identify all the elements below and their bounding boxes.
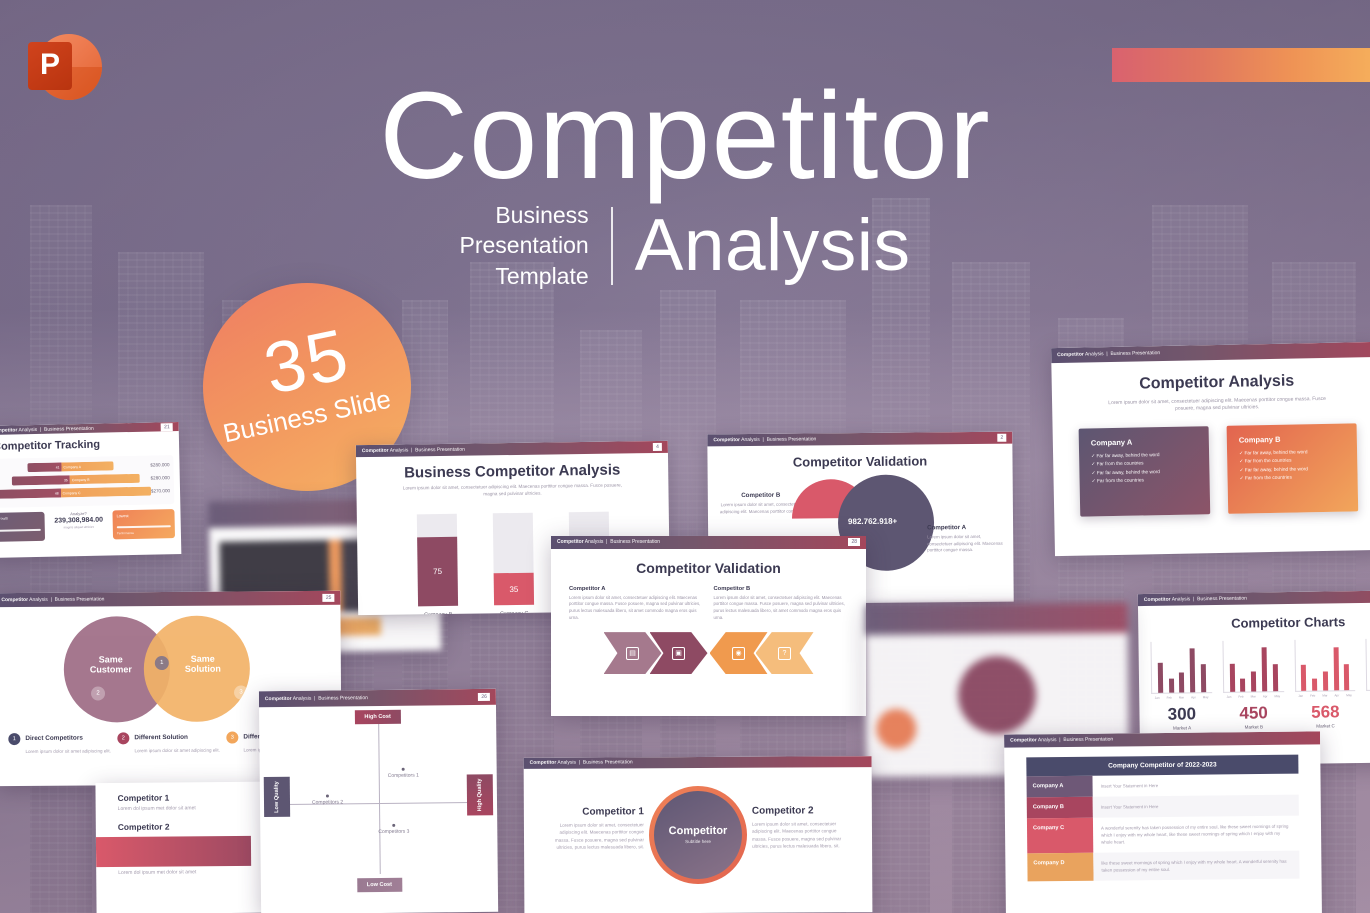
bar-column: 35 Company C [493, 513, 534, 606]
mini-bar-chart [1222, 640, 1283, 693]
preview-canvas: P Competitor BusinessPresentationTemplat… [0, 0, 1370, 913]
slide-header-brand: Competitor [362, 448, 389, 454]
tracking-card-right-rule [117, 525, 171, 528]
tracking-right-label: Company A [63, 465, 81, 469]
venn-right-number: 3 [234, 685, 248, 699]
table-company: Company C [1027, 818, 1093, 854]
table-statement: Insert Your Statement in Here [1092, 774, 1298, 797]
chart-big-number: 450 [1223, 703, 1284, 724]
blurred-header [865, 603, 1127, 635]
table-statement: Insert Your Statement in Here [1093, 795, 1299, 818]
tracking-card-left-rule [0, 529, 41, 532]
chart-cell: JanFebMarAprMay 568 Market C [1294, 639, 1356, 729]
competitor-pair-center-title: Competitor [669, 825, 728, 837]
slide-header-secondary: Business Presentation [415, 447, 465, 454]
table-company: Company D [1027, 853, 1093, 882]
table-company: Company A [1026, 776, 1092, 798]
competitor-pair-left-text: Lorem ipsum dolor sit amet, consectetuer… [550, 821, 644, 851]
matrix-vertical-axis [378, 722, 380, 874]
tracking-row: 35Company B $280.000 [0, 473, 170, 486]
matrix-label-right: High Quality [467, 774, 493, 815]
tracking-bar-panel: 41Company A $280.000 35Company B $280.00… [0, 455, 174, 508]
company-card-item: Far from the countries [1092, 477, 1198, 487]
venn-overlap-number: 1 [155, 655, 169, 669]
validation-right-title: Competitor A [927, 524, 1005, 532]
tracking-footer: Growth Analyze? 239,308,984.00 magnis al… [0, 509, 175, 542]
decorative-gradient-bar [1112, 48, 1370, 82]
matrix-point-label: Competitors 2 [312, 799, 343, 805]
matrix-label-bottom: Low Cost [357, 877, 402, 891]
table-row: Company C A wonderful serenity has taken… [1027, 816, 1299, 854]
matrix-plot: High Cost Low Cost Low Quality High Qual… [259, 704, 498, 894]
slide-competitor-analysis[interactable]: Competitor Analysis | Business Presentat… [1051, 342, 1370, 556]
chart-x-ticks: JanFebMarAprMay [1295, 693, 1356, 698]
slide-header-secondary: Business Presentation [1110, 350, 1160, 357]
mini-bar-chart [1150, 641, 1211, 694]
tracking-left-pct: 41 [56, 465, 60, 469]
venn-legend-number: 3 [226, 731, 238, 743]
arrow-process: ▤ ▣ ◉ ? [551, 632, 866, 674]
slide-header-brand-rest: Analysis [1171, 596, 1191, 602]
company-card-b-title: Company B [1239, 434, 1345, 445]
tracking-card-right-title: Lowest [117, 513, 171, 518]
company-card-a: Company A Far far away, behind the word … [1079, 426, 1211, 516]
slide-header-secondary: Business Presentation [55, 596, 105, 602]
tracking-row: 48Company C $270.000 [0, 486, 170, 499]
competitor-bars-accent [96, 836, 251, 867]
competitor-pair-center-sub: Subtitle here [685, 839, 711, 844]
validation-column-a-text: Lorem ipsum dolor sit amet, consectetuer… [569, 595, 704, 623]
matrix-point: Competitors 3 [378, 823, 409, 834]
validation-right-text: Lorem ipsum dolor sit amet, consectetuer… [927, 534, 1005, 555]
slide-header-secondary: Business Presentation [1063, 737, 1113, 744]
tracking-metric: Analyze? 239,308,984.00 magnis aliquet u… [48, 511, 109, 541]
tracking-row: 41Company A $280.000 [0, 460, 170, 473]
charts-row: JanFebMarAprMay 300 Market A JanFebMarAp… [1138, 638, 1370, 731]
competitor-table: Company Competitor of 2022-2023 Company … [1026, 755, 1299, 882]
tracking-left-pct: 35 [64, 478, 68, 482]
slide-header-brand-rest: Analysis [584, 539, 604, 545]
chart-big-number: 300 [1151, 704, 1212, 725]
tracking-card-left: Growth [0, 512, 45, 542]
table-row: Company A Insert Your Statement in Here [1026, 774, 1298, 798]
slide-header-secondary: Business Presentation [318, 695, 368, 702]
venn-right-label: SameSolution [156, 653, 250, 675]
slide-header-brand-rest: Analysis [1084, 351, 1104, 357]
tracking-card-right: Lowest Performance [112, 509, 175, 539]
slide-header-secondary: Business Presentation [583, 760, 633, 766]
slide-header-brand: Competitor [713, 437, 740, 443]
slide-title: Competitor Tracking [0, 437, 179, 453]
help-icon: ? [756, 632, 814, 674]
chart-x-ticks: JanFebMarAprMay [1223, 694, 1284, 699]
tracking-metric-value: 239,308,984.00 [49, 517, 109, 525]
blurred-circle [958, 656, 1037, 735]
slide-title: Competitor Charts [1138, 613, 1370, 632]
slide-header-brand-rest: Analysis [556, 760, 576, 766]
competitor-pair-layout: Competitor 1 Lorem ipsum dolor sit amet,… [524, 767, 873, 897]
slide-header-brand: Competitor [1, 597, 28, 603]
tracking-card-right-sub: Performance [117, 530, 171, 535]
table-row: Company D like these sweet mornings of s… [1027, 851, 1299, 882]
slide-competitor-validation-arrows[interactable]: Competitor Analysis | Business Presentat… [551, 536, 866, 716]
matrix-point: Competitors 2 [312, 794, 343, 805]
competitor-pair-right: Competitor 2 Lorem ipsum dolor sit amet,… [752, 805, 846, 850]
slide-header-brand-rest: Analysis [17, 427, 37, 433]
slide-number: 4 [653, 443, 662, 451]
slide-header-brand: Competitor [1057, 352, 1084, 359]
slide-header-brand-rest: Analysis [292, 695, 312, 701]
blurred-dot [876, 709, 916, 749]
slide-subtitle: Lorem ipsum dolor sit amet, consectetuer… [1052, 394, 1370, 415]
venn-legend-item: 2Different Solution Lorem ipsum dolor si… [117, 731, 220, 754]
validation-column-b-text: Lorem ipsum dolor sit amet, consectetuer… [714, 595, 849, 623]
company-cards: Company A Far far away, behind the word … [1053, 423, 1370, 517]
slide-header: Competitor Analysis | Business Presentat… [0, 591, 340, 607]
validation-column-b-title: Competitor B [714, 586, 849, 592]
venn-legend-number: 1 [8, 733, 20, 745]
matrix-point-label: Competitors 1 [388, 772, 419, 778]
table-statement: like these sweet mornings of spring whic… [1093, 851, 1299, 881]
slide-positioning-matrix[interactable]: Competitor Analysis | Business Presentat… [259, 689, 498, 913]
hero-subtitle-right: Analysis [613, 204, 911, 287]
validation-left-title: Competitor B [718, 491, 804, 499]
matrix-point: Competitors 1 [388, 767, 419, 778]
slide-title: Business Competitor Analysis [356, 461, 668, 482]
slide-header-brand-rest: Analysis [740, 437, 760, 443]
competitor-pair-left-title: Competitor 1 [550, 806, 644, 817]
powerpoint-icon-letter: P [28, 42, 72, 90]
tracking-value: $280.000 [151, 475, 170, 480]
slide-header: Competitor Analysis | Business Presentat… [707, 432, 1012, 447]
company-card-a-title: Company A [1091, 436, 1197, 447]
company-card-item: Far from the countries [1240, 474, 1346, 484]
slide-header-brand-rest: Analysis [1037, 738, 1057, 744]
slide-title: Competitor Validation [551, 560, 866, 576]
slide-header-brand: Competitor [557, 539, 584, 545]
validation-right-column: Competitor A Lorem ipsum dolor sit amet,… [927, 524, 1005, 555]
slide-header: Competitor Analysis | Business Presentat… [551, 536, 866, 549]
slide-subtitle: Lorem ipsum dolor sit amet, consectetuer… [356, 482, 668, 500]
chart-market-label: Market B [1223, 724, 1284, 730]
tracking-card-left-title: Growth [0, 516, 41, 521]
table-company: Company B [1027, 797, 1093, 819]
slide-header-brand: Competitor [1144, 597, 1171, 603]
tracking-right-label: Company C [63, 491, 81, 495]
validation-left-column: Competitor B Lorem ipsum dolor sit amet,… [718, 491, 804, 515]
slide-header-divider: | [40, 426, 41, 432]
competitor-pair-left: Competitor 1 Lorem ipsum dolor sit amet,… [550, 806, 644, 851]
mini-bar-chart [1294, 639, 1355, 692]
slide-company-competitor-table[interactable]: Competitor Analysis | Business Presentat… [1004, 731, 1322, 913]
validation-columns: Competitor A Lorem ipsum dolor sit amet,… [551, 586, 866, 623]
document-icon: ▤ [604, 632, 662, 674]
company-card-b: Company B Far far away, behind the word … [1227, 423, 1359, 513]
competitor-pair-right-text: Lorem ipsum dolor sit amet, consectetuer… [752, 820, 846, 850]
page-title: Competitor [0, 78, 1370, 196]
chart-x-ticks: JanFebMarAprMay [1366, 692, 1370, 697]
matrix-point-label: Competitors 3 [378, 828, 409, 834]
venn-legend-number: 2 [117, 732, 129, 744]
venn-left-number: 2 [91, 686, 105, 700]
table-statement: A wonderful serenity has taken possessio… [1093, 816, 1299, 853]
competitor-pair-ring: Competitor Subtitle here [649, 786, 748, 885]
validation-left-text: Lorem ipsum dolor sit amet, consectetuer… [718, 501, 804, 515]
validation-big-number: 982.762.918+ [848, 517, 897, 526]
chart-big-number: 314 [1367, 701, 1370, 722]
slide-header: Competitor Analysis | Business Presentat… [1004, 731, 1320, 747]
venn-legend-item: 1Direct Competitors Lorem ipsum dolor si… [8, 732, 111, 755]
slide-header-brand-rest: Analysis [28, 597, 48, 603]
slide-number: 2 [997, 434, 1006, 442]
bar-value: 35 [494, 573, 534, 606]
chart-cell: JanFebMarAprMay 314 Market D [1366, 638, 1370, 728]
tracking-metric-sub: magnis aliquet ultricies [49, 525, 109, 530]
tracking-value: $280.000 [150, 462, 169, 467]
table-row: Company B Insert Your Statement in Here [1027, 795, 1299, 819]
chart-big-number: 568 [1295, 702, 1356, 723]
slide-header-brand: Competitor [1010, 738, 1037, 744]
slide-header-secondary: Business Presentation [767, 436, 817, 442]
slide-header-secondary: Business Presentation [610, 539, 660, 545]
competitor-pair-center: Competitor Subtitle here [654, 791, 742, 879]
venn-legend-name: Different Solution [134, 734, 188, 741]
tracking-right-label: Company B [72, 478, 90, 482]
validation-column-a: Competitor A Lorem ipsum dolor sit amet,… [569, 586, 704, 623]
slide-number: 28 [848, 538, 860, 546]
venn-legend-text: Lorem ipsum dolor sit amet adipiscing el… [134, 746, 220, 754]
slide-competitor-pair[interactable]: Competitor Analysis | Business Presentat… [524, 756, 873, 913]
validation-column-a-title: Competitor A [569, 586, 704, 592]
slide-header-brand: Competitor [0, 427, 17, 434]
hero-subtitle-left: BusinessPresentationTemplate [460, 200, 611, 291]
venn-legend-name: Direct Competitors [25, 735, 83, 742]
matrix-label-left: Low Quality [264, 777, 290, 817]
tracking-value: $270.000 [151, 488, 170, 493]
slide-number: 25 [323, 594, 335, 602]
slide-header-brand-rest: Analysis [389, 447, 409, 453]
chart-x-ticks: JanFebMarAprMay [1151, 695, 1212, 700]
chart-cell: JanFebMarAprMay 450 Market B [1222, 640, 1284, 730]
slide-competitor-tracking[interactable]: Competitor Analysis | Business Presentat… [0, 422, 181, 558]
slide-header-secondary: Business Presentation [44, 425, 94, 432]
slide-title: Competitor Analysis [1052, 370, 1370, 394]
mini-bar-chart [1366, 638, 1370, 691]
bar-column: 75 Company B [417, 514, 458, 607]
venn-legend-text: Lorem ipsum dolor sit amet adipiscing el… [25, 747, 111, 755]
tracking-left-pct: 48 [55, 491, 59, 495]
matrix-label-top: High Cost [354, 709, 401, 723]
bar-value: 75 [417, 537, 458, 607]
hero-title-block: Competitor BusinessPresentationTemplate … [0, 78, 1370, 291]
chart-cell: JanFebMarAprMay 300 Market A [1150, 641, 1212, 731]
chart-market-label: Market C [1295, 723, 1356, 729]
slide-number: 21 [161, 423, 173, 431]
slide-header-brand: Competitor [530, 760, 557, 766]
slide-number: 26 [478, 693, 490, 701]
validation-column-b: Competitor B Lorem ipsum dolor sit amet,… [714, 586, 849, 623]
chart-market-label: Market A [1152, 725, 1213, 731]
slide-header-brand: Competitor [265, 696, 292, 702]
competitor-pair-right-title: Competitor 2 [752, 805, 846, 816]
slide-header-secondary: Business Presentation [1197, 596, 1247, 603]
